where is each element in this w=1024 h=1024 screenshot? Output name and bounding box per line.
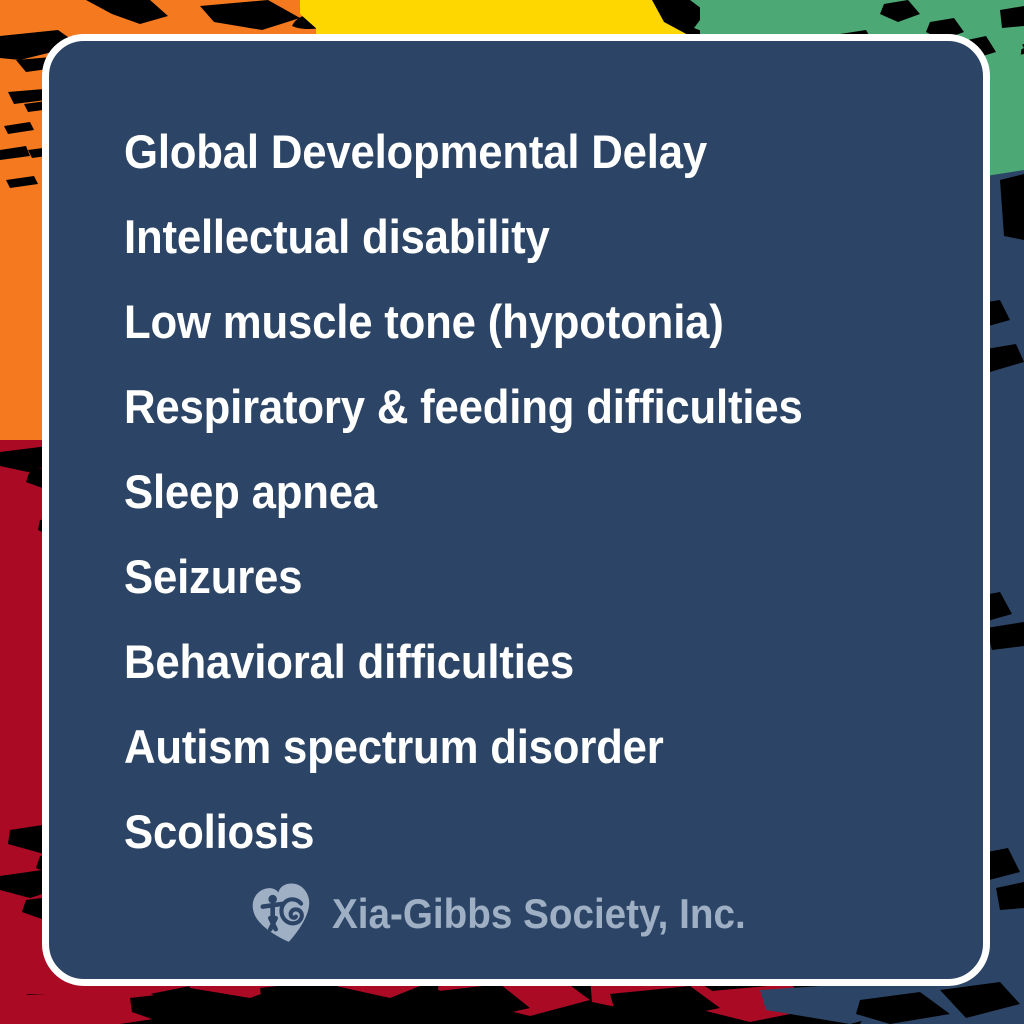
poster-root: Global Developmental Delay Intellectual … xyxy=(0,0,1024,1024)
list-item: Respiratory & feeding difficulties xyxy=(124,364,896,449)
xg-heart-logo-icon xyxy=(250,883,316,945)
list-item: Autism spectrum disorder xyxy=(124,704,896,789)
list-item: Global Developmental Delay xyxy=(124,109,896,194)
symptom-list: Global Developmental Delay Intellectual … xyxy=(124,109,954,874)
list-item: Intellectual disability xyxy=(124,194,896,279)
list-item: Low muscle tone (hypotonia) xyxy=(124,279,896,364)
list-item: Seizures xyxy=(124,534,896,619)
symptoms-card: Global Developmental Delay Intellectual … xyxy=(42,34,990,986)
organization-name: Xia-Gibbs Society, Inc. xyxy=(332,893,746,935)
list-item: Sleep apnea xyxy=(124,449,896,534)
list-item: Behavioral difficulties xyxy=(124,619,896,704)
list-item: Scoliosis xyxy=(124,789,896,874)
organization-footer: Xia-Gibbs Society, Inc. xyxy=(49,883,983,945)
